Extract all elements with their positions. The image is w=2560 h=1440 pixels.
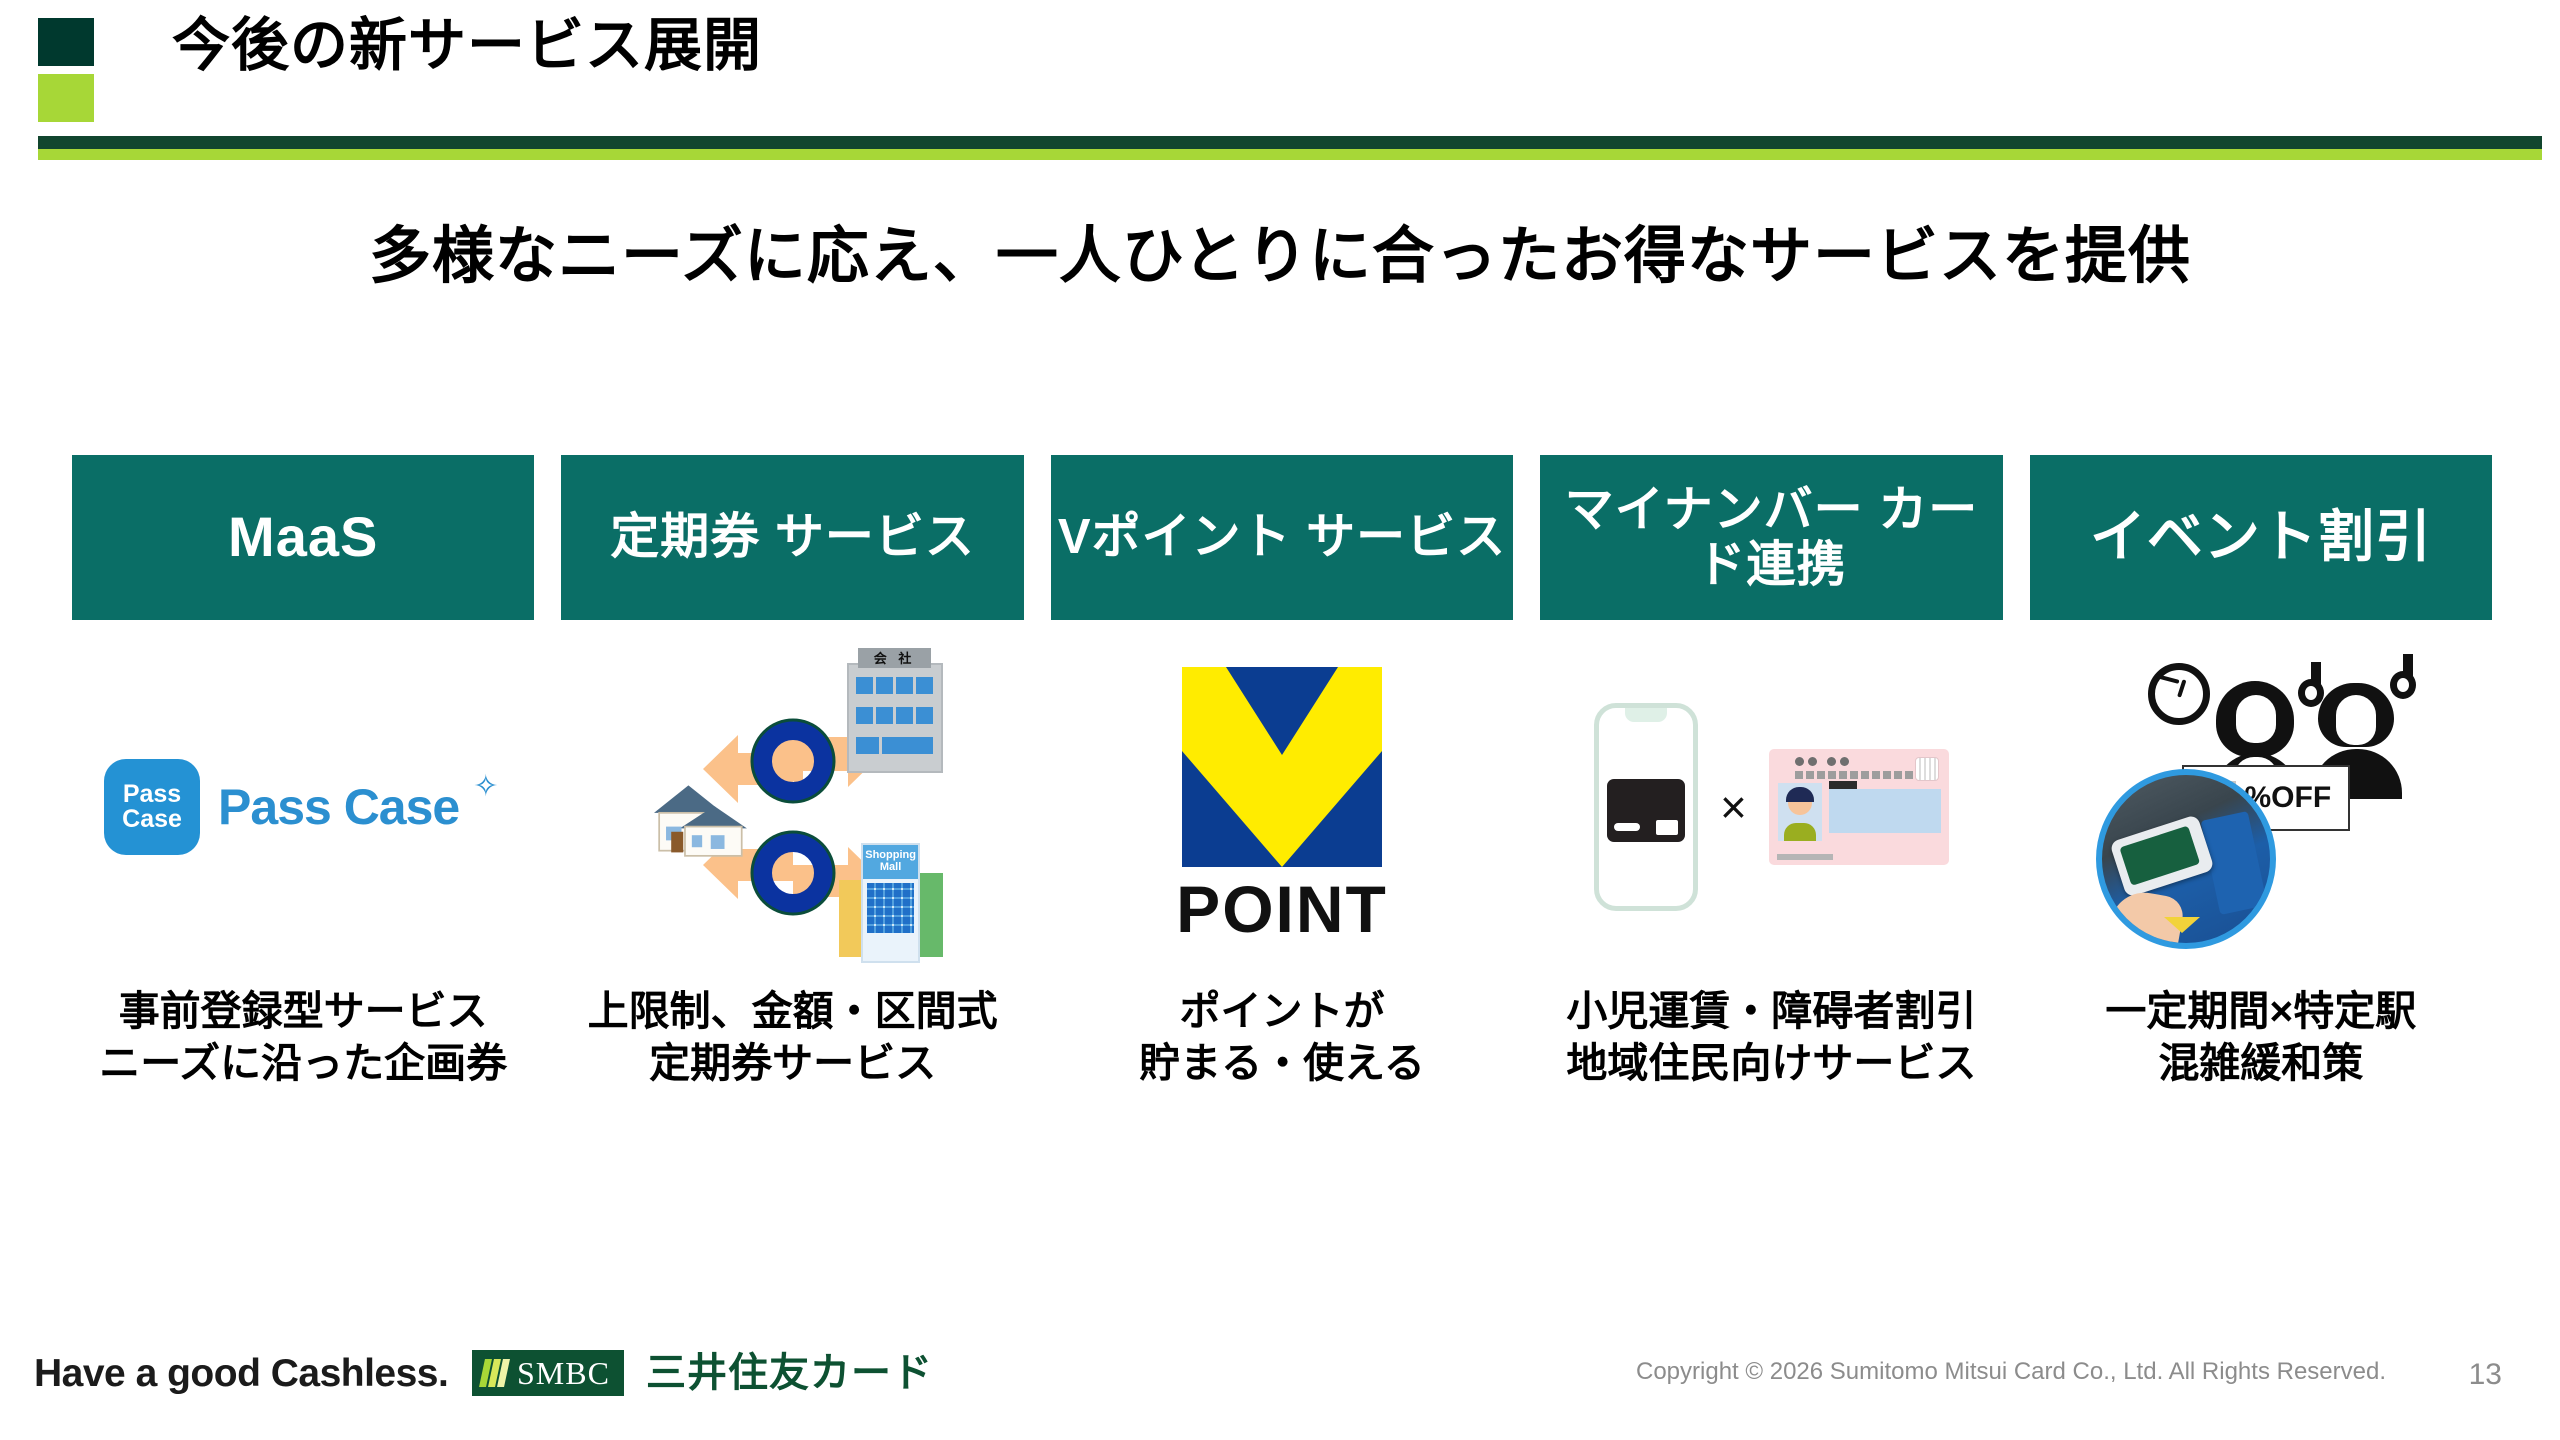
passcase-icon-line2: Case [122, 807, 182, 832]
service-caption-maas: 事前登録型サービス ニーズに沿った企画券 [99, 985, 507, 1090]
gate-phone-screen [2119, 825, 2200, 885]
service-column-mynumber: マイナンバー カード連携 × [1540, 455, 2002, 1090]
id-address-field [1829, 789, 1941, 833]
service-columns: MaaS Pass Case Pass Case ✧ 事前登録型サービス ニーズ… [72, 455, 2492, 1090]
mall-right-wing [920, 873, 943, 957]
service-caption-mynumber: 小児運賃・障碍者割引 地域住民向けサービス [1566, 985, 1976, 1090]
id-footer-bar [1777, 854, 1833, 860]
phone-notch [1625, 708, 1666, 722]
gate-phone [2109, 814, 2214, 898]
event-discount-diagram: %OFF [2096, 657, 2426, 957]
id-ic-chip-icon [1915, 757, 1939, 781]
hand-strap-icon-left [2298, 679, 2324, 707]
passcase-app-icon: Pass Case [104, 759, 200, 855]
vpoint-mark [1182, 667, 1382, 867]
header-accent-lime-square [38, 74, 94, 122]
house-icon [645, 775, 749, 861]
service-caption-vpoint: ポイントが 貯まる・使える [1139, 985, 1425, 1090]
service-caption-commuter-pass: 上限制、金額・区間式 定期券サービス [588, 985, 998, 1090]
smbc-logo: SMBC [472, 1350, 624, 1396]
service-heading-event-discount: イベント割引 [2030, 455, 2492, 620]
service-column-commuter-pass: 定期券 サービス [561, 455, 1023, 1090]
person-male-face [2336, 695, 2376, 745]
smartphone-icon [1594, 703, 1698, 911]
card-stripe [1614, 823, 1640, 831]
mynumber-card-icon [1769, 749, 1949, 865]
id-portrait [1778, 783, 1822, 841]
copyright-notice: Copyright © 2026 Sumitomo Mitsui Card Co… [1636, 1358, 2386, 1386]
shopping-mall-icon: Shopping Mall [839, 837, 943, 957]
footer-tagline: Have a good Cashless. [34, 1352, 448, 1396]
passcase-wordmark: Pass Case [218, 778, 459, 836]
page-title: 今後の新サービス展開 [172, 14, 762, 78]
smbc-logo-text: SMBC [517, 1355, 610, 1392]
passcase-icon-line1: Pass [123, 782, 181, 807]
id-dots [1795, 757, 1849, 766]
multiply-icon: × [1720, 780, 1747, 834]
mall-sign-line2: Mall [880, 862, 901, 874]
passcase-logo-art: Pass Case Pass Case ✧ [72, 634, 534, 979]
header-rule-dark [38, 136, 2542, 149]
mall-left-wing [839, 880, 864, 957]
id-hair [1786, 787, 1814, 802]
hand-strap-icon-right [2390, 671, 2416, 699]
header-rule-lime [38, 149, 2542, 160]
clock-icon [2148, 663, 2210, 725]
id-number-bars [1795, 771, 1924, 779]
service-heading-mynumber: マイナンバー カード連携 [1540, 455, 2002, 620]
vpoint-logo: POINT [1176, 667, 1388, 947]
passcase-logo: Pass Case Pass Case ✧ [104, 759, 502, 855]
event-discount-art: %OFF [2030, 634, 2492, 979]
card-chip-icon [1656, 820, 1678, 835]
page-number: 13 [2469, 1358, 2502, 1392]
mall-sign: Shopping Mall [863, 845, 917, 879]
mall-sign-line1: Shopping [865, 850, 916, 862]
header-accent-dark-square [38, 18, 94, 66]
service-heading-maas: MaaS [72, 455, 534, 620]
mall-main-building: Shopping Mall [861, 843, 919, 963]
office-building-icon: 会 社 [847, 663, 943, 773]
mall-windows [867, 883, 915, 933]
id-shoulders [1784, 823, 1816, 841]
credit-card-icon [1607, 779, 1686, 842]
ticket-gate-photo [2096, 769, 2276, 949]
person-female-face [2236, 695, 2276, 743]
slide-subtitle: 多様なニーズに応え、一人ひとりに合ったお得なサービスを提供 [0, 205, 2560, 295]
phone-and-id-diagram: × [1594, 703, 1949, 911]
service-heading-vpoint: Vポイント サービス [1051, 455, 1513, 620]
mynumber-link-art: × [1540, 634, 2002, 979]
vpoint-label: POINT [1176, 871, 1388, 947]
commute-diagram: 会 社 Shopping Mall [643, 657, 943, 957]
service-caption-event-discount: 一定期間×特定駅 混雑緩和策 [2105, 985, 2416, 1090]
vpoint-logo-art: POINT [1051, 634, 1513, 979]
smbc-mark-icon [482, 1359, 507, 1387]
slide: 今後の新サービス展開 多様なニーズに応え、一人ひとりに合ったお得なサービスを提供… [0, 0, 2560, 1440]
service-column-event-discount: イベント割引 [2030, 455, 2492, 1090]
commute-flow-art: 会 社 Shopping Mall [561, 634, 1023, 979]
gate-arrow-icon [2164, 917, 2200, 933]
service-column-maas: MaaS Pass Case Pass Case ✧ 事前登録型サービス ニーズ… [72, 455, 534, 1090]
service-heading-commuter-pass: 定期券 サービス [561, 455, 1023, 620]
company-name-jp: 三井住友カード [646, 1340, 933, 1398]
sparkle-icon: ✧ [473, 769, 498, 804]
v-chevron-icon [1182, 667, 1382, 867]
office-sign: 会 社 [858, 648, 932, 668]
service-column-vpoint: Vポイント サービス POINT ポイントが 貯まる・使える [1051, 455, 1513, 1090]
